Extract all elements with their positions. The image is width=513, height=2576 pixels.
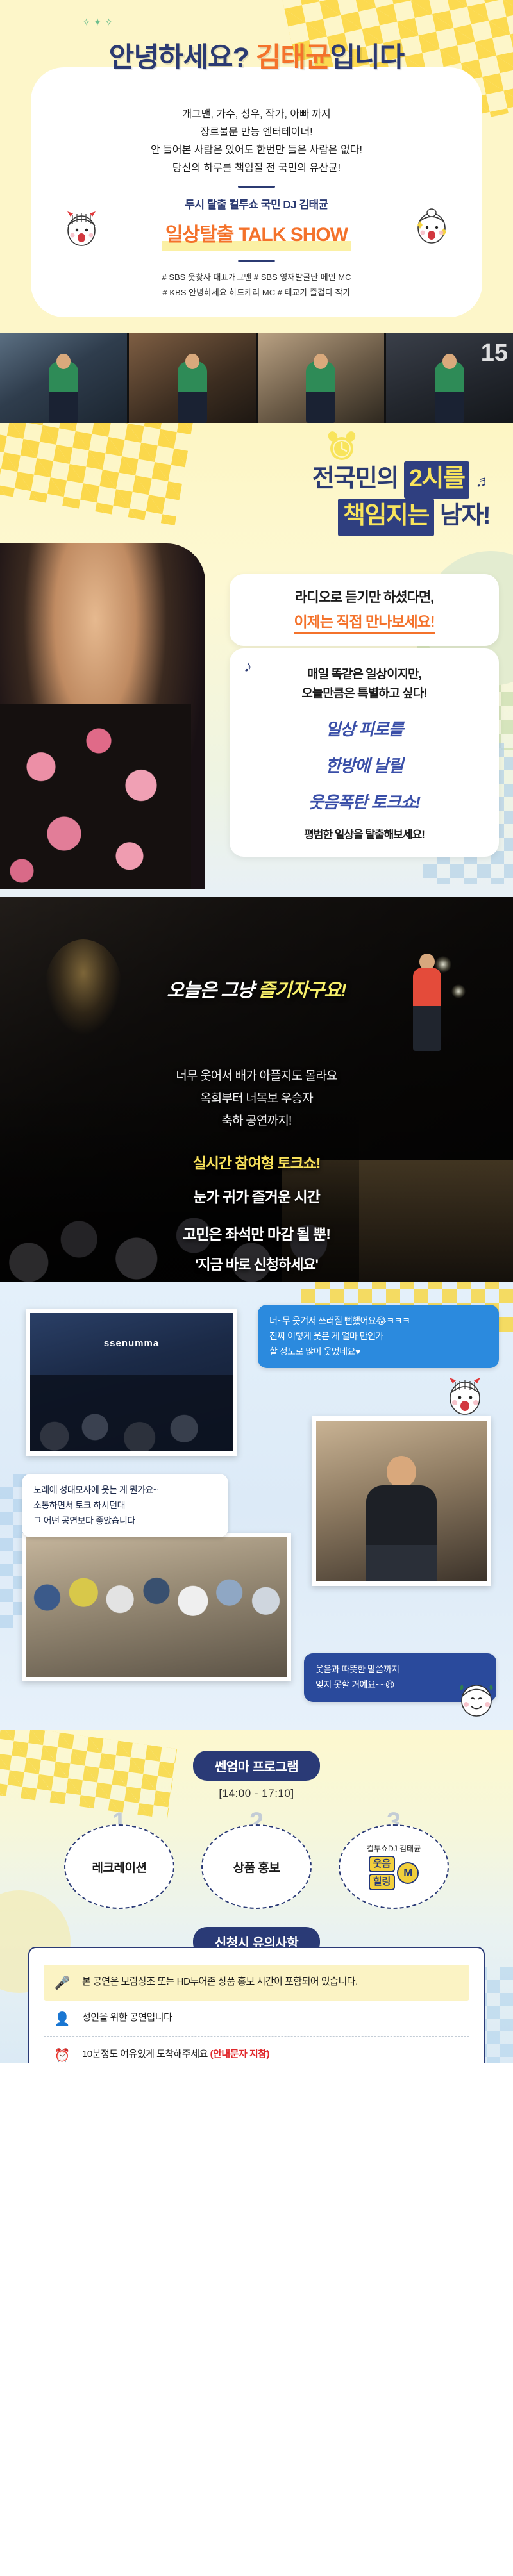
logo-text-block: 웃음 힐링: [369, 1856, 396, 1890]
program-step-1: 1 레크레이션: [64, 1817, 174, 1909]
program-step-2: 2 상품 홍보: [201, 1817, 312, 1909]
person-icon: 👤: [51, 2008, 73, 2029]
notice-row: ⏰ 10분정도 여유있게 도착해주세요 (안내문자 지참): [44, 2037, 469, 2063]
group-photo-image: [26, 1537, 287, 1677]
testimonial-2-line-2: 소통하면서 토크 하시던대: [33, 1498, 217, 1514]
photo-strip: 15: [0, 333, 513, 423]
hero-intro-section: ✧✦✧ 안녕하세요? 김태균입니다 개그맨, 가수, 성우, 작가, 아빠 까지…: [0, 0, 513, 333]
headline-l2-highlight: 책임지는: [338, 499, 434, 536]
notice-text-1: 본 공연은 보람상조 또는 HD투어존 상품 홍보 시간이 포함되어 있습니다.: [82, 1972, 358, 1990]
notice-list: 🎤 본 공연은 보람상조 또는 HD투어존 상품 홍보 시간이 포함되어 있습니…: [28, 1947, 485, 2063]
notice-row: 👤 성인을 위한 공연입니다: [44, 2001, 469, 2037]
hashtag-line-2: # KBS 안녕하세요 하드캐리 MC # 태교가 즐겁다 작가: [0, 285, 513, 301]
venue-callout-yellow: 실시간 참여형 토크쇼!: [193, 1155, 321, 1171]
venue-description: 너무 웃어서 배가 아플지도 몰라요 옥희부터 너목보 우승자 축하 공연까지!: [0, 1065, 513, 1132]
smiling-face-doodle-2-icon: [454, 1672, 499, 1719]
venue-dark-section: 오늘은 그냥 즐기자구요! 너무 웃어서 배가 아플지도 몰라요 옥희부터 너목…: [0, 897, 513, 1282]
testimonials-section: ssenumma 너~무 웃겨서 쓰러질 뻔했어요😂ㅋㅋㅋ 진짜 이렇게 웃은 …: [0, 1282, 513, 1730]
host-body: [366, 1485, 437, 1581]
headline-line-1: 전국민의 2시를 ♬: [312, 461, 490, 499]
everyday-plain-line-2: 오늘만큼은 특별하고 싶다!: [240, 684, 489, 704]
program-title: 쎈엄마 프로그램: [193, 1751, 320, 1781]
floral-jacket-detail: [0, 704, 191, 889]
page-title-part1: 안녕하세요?: [109, 42, 249, 73]
radio-invite-line-1: 라디오로 듣기만 하셨다면,: [240, 587, 489, 606]
microphone-icon: 🎤: [51, 1972, 73, 1994]
show-title: 일상탈출 TALK SHOW: [165, 219, 348, 252]
divider: [238, 186, 275, 188]
headline-l2-b: 남자!: [440, 502, 490, 529]
venue-script-headline: 오늘은 그냥 즐기자구요!: [0, 975, 513, 1002]
venue-callout-quote: '지금 바로 신청하세요': [0, 1253, 513, 1274]
page-title-part2: 김태균: [256, 42, 330, 73]
step-1-circle: 레크레이션: [64, 1824, 174, 1909]
laughter-healing-logo: 웃음 힐링 M: [369, 1856, 419, 1890]
cartoon-face-left-icon: [62, 206, 101, 247]
everyday-plain-line-1: 매일 똑같은 일상이지만,: [240, 665, 489, 684]
person-silhouette: [49, 361, 78, 423]
person-head: [314, 354, 328, 369]
checker-pattern-decoration: [0, 423, 194, 525]
host-photo-image: [316, 1421, 487, 1581]
step-3-circle: 컬투쇼DJ 김태균 웃음 힐링 M: [339, 1824, 449, 1909]
group-audience: [26, 1562, 287, 1646]
venue-desc-line-1: 너무 웃어서 배가 아플지도 몰라요: [0, 1065, 513, 1087]
hero-body-line-3: 안 들어본 사람은 있어도 한번만 들은 사람은 없다!: [0, 142, 513, 160]
person-silhouette: [178, 361, 207, 423]
page-title-part3: 입니다: [330, 42, 405, 73]
hero-body-line-4: 당신의 하루를 책임질 전 국민의 유산균!: [0, 160, 513, 178]
headline-l1-a: 전국민의: [312, 465, 398, 492]
person-head: [56, 354, 71, 369]
headline-line-2: 책임지는 남자!: [312, 499, 490, 536]
notice-text-3-wrap: 10분정도 여유있게 도착해주세요 (안내문자 지참): [82, 2044, 269, 2062]
hero-body-line-2: 장르불문 만능 엔터테이너!: [0, 124, 513, 142]
step-3-caption: 컬투쇼DJ 김태균: [367, 1843, 421, 1854]
studio-guest-photo: [129, 333, 256, 423]
logo-text-top: 웃음: [369, 1856, 396, 1872]
radio-booth-photo: [0, 333, 127, 423]
person-head: [442, 354, 457, 369]
everyday-tail-line: 평범한 일상을 탈출해보세요!: [240, 825, 489, 841]
hashtag-line-1: # SBS 웃찾사 대표개그맨 # SBS 영재발굴단 메인 MC: [0, 270, 513, 285]
divider-2: [238, 260, 275, 262]
hero-body-line-1: 개그맨, 가수, 성우, 작가, 아빠 까지: [0, 106, 513, 124]
audience-photo-1: ssenumma: [26, 1309, 237, 1456]
program-notice-section: 쎈엄마 프로그램 [14:00 - 17:10] 1 레크레이션 2 상품 홍보…: [0, 1730, 513, 2063]
venue-callout: 실시간 참여형 토크쇼! 눈가 귀가 즐거운 시간 고민은 좌석만 마감 될 뿐…: [0, 1151, 513, 1274]
hashtag-block: # SBS 웃찾사 대표개그맨 # SBS 영재발굴단 메인 MC # KBS …: [0, 270, 513, 301]
group-photo: [22, 1533, 291, 1681]
photo-badge-number: 15: [481, 340, 508, 367]
music-note-icon: ♪: [244, 656, 252, 676]
everyday-script-line-1: 일상 피로를: [240, 718, 489, 741]
testimonial-2-line-3: 그 어떤 공연보다 좋았습니다: [33, 1514, 217, 1529]
audience-photo-1-image: ssenumma: [30, 1313, 233, 1451]
step-1-label: 레크레이션: [92, 1858, 147, 1876]
testimonial-1-line-2: 진짜 이렇게 웃은 게 얼마 만인가: [269, 1329, 487, 1344]
main-headline: 전국민의 2시를 ♬ 책임지는 남자!: [312, 461, 490, 536]
testimonial-1-line-3: 할 정도로 많이 웃었네요♥: [269, 1344, 487, 1360]
person-silhouette: [306, 361, 335, 423]
stage-photo: 15: [386, 333, 513, 423]
radio-invite-line-2: 이제는 직접 만나보세요!: [294, 609, 434, 634]
person-silhouette: [435, 361, 464, 423]
program-header: 쎈엄마 프로그램 [14:00 - 17:10]: [0, 1730, 513, 1800]
testimonial-bubble-2: 노래에 성대모사에 웃는 게 뭔가요~ 소통하면서 토크 하시던대 그 어떤 공…: [22, 1474, 228, 1537]
cartoon-face-right-icon: [412, 204, 451, 245]
alarm-clock-icon: ⏰: [51, 2044, 73, 2063]
program-steps: 1 레크레이션 2 상품 홍보 3 컬투쇼DJ 김태균 웃음: [0, 1817, 513, 1909]
two-oclock-section: 전국민의 2시를 ♬ 책임지는 남자! 라디오로 듣기만 하셨다면, 이제는 직…: [0, 423, 513, 897]
radio-invite-card: 라디오로 듣기만 하셨다면, 이제는 직접 만나보세요!: [230, 574, 499, 646]
host-head: [387, 1456, 416, 1488]
alarm-clock-icon: [324, 429, 359, 463]
everyday-script-line-2: 한방에 날릴: [240, 755, 489, 777]
promo-page: ✧✦✧ 안녕하세요? 김태균입니다 개그맨, 가수, 성우, 작가, 아빠 까지…: [0, 0, 513, 2063]
venue-script-a: 오늘은 그냥: [167, 980, 253, 1001]
notice-row: 🎤 본 공연은 보람상조 또는 HD투어존 상품 홍보 시간이 포함되어 있습니…: [44, 1965, 469, 2001]
notice-text-3-red: (안내문자 지참): [210, 2049, 269, 2060]
step-2-circle: 상품 홍보: [201, 1824, 312, 1909]
logo-text-bottom: 힐링: [369, 1874, 396, 1890]
smiling-face-doodle-1-icon: [442, 1371, 487, 1417]
program-time-range: [14:00 - 17:10]: [0, 1787, 513, 1800]
audience-silhouettes: [30, 1375, 233, 1451]
headline-l1-highlight: 2시를: [404, 461, 470, 499]
everyday-card: ♪ 매일 똑같은 일상이지만, 오늘만큼은 특별하고 싶다! 일상 피로를 한방…: [230, 648, 499, 857]
venue-script-b: 즐기자구요!: [258, 980, 346, 1001]
person-head: [185, 354, 199, 369]
host-photo: [312, 1416, 491, 1586]
testimonial-bubble-1: 너~무 웃겨서 쓰러질 뻔했어요😂ㅋㅋㅋ 진짜 이렇게 웃은 게 얼마 만인가 …: [258, 1305, 499, 1368]
music-note-icon: ♬: [476, 473, 491, 490]
venue-callout-white-2: 고민은 좌석만 마감 될 뿐!: [0, 1223, 513, 1247]
page-title: 안녕하세요? 김태균입니다: [0, 35, 513, 75]
step-2-label: 상품 홍보: [233, 1858, 280, 1876]
notice-text-3: 10분정도 여유있게 도착해주세요: [82, 2049, 210, 2060]
testimonial-2-line-1: 노래에 성대모사에 웃는 게 뭔가요~: [33, 1483, 217, 1498]
mascot-doll-photo: [258, 333, 385, 423]
venue-callout-white-1: 눈가 귀가 즐거운 시간: [0, 1185, 513, 1210]
testimonial-1-line-1: 너~무 웃겨서 쓰러질 뻔했어요😂ㅋㅋㅋ: [269, 1314, 487, 1329]
sparkles-icon: ✧✦✧: [82, 16, 115, 29]
program-step-3: 3 컬투쇼DJ 김태균 웃음 힐링 M: [339, 1817, 449, 1909]
singer-photo: [0, 543, 205, 889]
notice-text-2: 성인을 위한 공연입니다: [82, 2008, 172, 2026]
everyday-script-line-3: 웃음폭탄 토크쇼!: [240, 791, 489, 814]
venue-desc-line-3: 축하 공연까지!: [0, 1110, 513, 1132]
logo-mark-icon: M: [397, 1862, 419, 1884]
venue-desc-line-2: 옥희부터 너목보 우승자: [0, 1087, 513, 1110]
venue-brand-label: ssenumma: [104, 1338, 159, 1349]
